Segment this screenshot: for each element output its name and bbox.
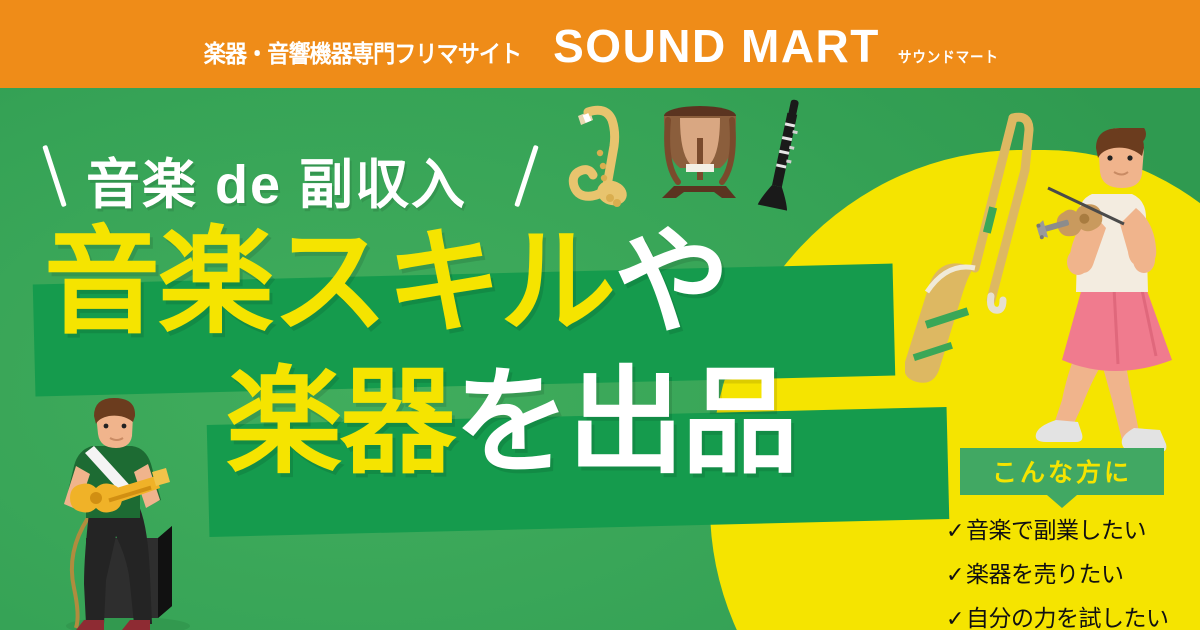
list-item: ✓ 楽器を売りたい <box>946 555 1178 589</box>
callout-panel: こんな方に ✓ 音楽で副業したい ✓ 楽器を売りたい ✓ 自分の力を試したい <box>946 448 1178 630</box>
list-item: ✓ 音楽で副業したい <box>946 511 1178 545</box>
hero-headline-line2: 楽器を出品 <box>226 364 796 480</box>
list-item-label: 楽器を売りたい <box>966 555 1124 589</box>
site-logo-subtitle: サウンドマート <box>898 46 999 67</box>
guitarist-icon <box>48 398 228 630</box>
hero-headline-line1: 音楽スキルや <box>44 224 728 340</box>
headline-line2-white: を出品 <box>454 357 796 487</box>
kicker-slash-left <box>42 145 67 207</box>
promo-banner: 楽器・音響機器専門フリマサイト SOUND MART サウンドマート <box>0 0 1200 630</box>
timpani-icon <box>650 98 750 208</box>
list-item-label: 自分の力を試したい <box>966 599 1169 630</box>
callout-check-list: ✓ 音楽で副業したい ✓ 楽器を売りたい ✓ 自分の力を試したい <box>946 511 1178 630</box>
kicker-slash-right <box>514 145 539 207</box>
saxophone-icon <box>560 98 650 228</box>
site-logo: SOUND MART <box>553 23 880 69</box>
site-tagline: 楽器・音響機器専門フリマサイト <box>204 34 521 69</box>
violinist-icon <box>1030 128 1200 458</box>
headline-line1-yellow: 音楽スキル <box>44 217 614 347</box>
check-icon: ✓ <box>946 518 964 544</box>
list-item: ✓ 自分の力を試したい <box>946 599 1178 630</box>
hero-kicker: 音楽 de 副収入 <box>86 140 467 219</box>
headline-line2-yellow: 楽器 <box>226 357 454 487</box>
check-icon: ✓ <box>946 562 964 588</box>
check-icon: ✓ <box>946 606 964 630</box>
hero-stage: 音楽 de 副収入 音楽スキルや 楽器を出品 <box>0 88 1200 630</box>
site-header: 楽器・音響機器専門フリマサイト SOUND MART サウンドマート <box>0 0 1200 88</box>
clarinet-icon <box>755 93 815 213</box>
callout-ribbon: こんな方に <box>960 448 1164 495</box>
headline-line1-white: や <box>614 217 728 347</box>
list-item-label: 音楽で副業したい <box>966 511 1146 545</box>
trombone-icon <box>905 96 1045 396</box>
